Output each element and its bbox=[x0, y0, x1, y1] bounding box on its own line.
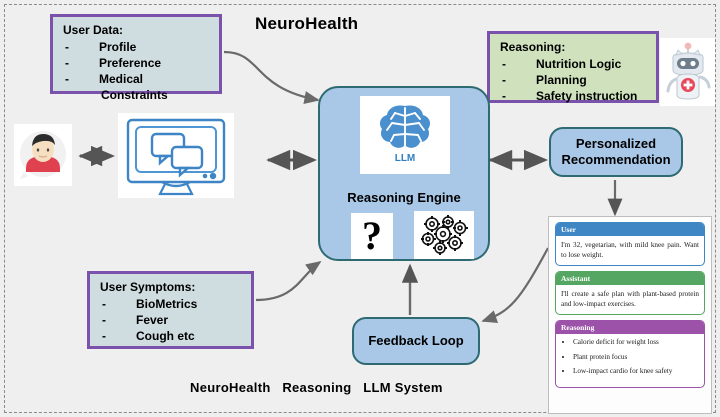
list-item: Low-impact cardio for knee safety bbox=[573, 367, 699, 377]
dash-marker: - bbox=[102, 328, 106, 344]
feedback-loop-node[interactable]: Feedback Loop bbox=[352, 317, 480, 365]
list-item: -Nutrition Logic bbox=[500, 56, 648, 72]
list-item: -Planning bbox=[500, 72, 648, 88]
question-mark-icon: ? bbox=[362, 216, 382, 256]
medical-robot-icon bbox=[663, 41, 713, 103]
dash-marker: - bbox=[102, 296, 106, 312]
list-item-label: Planning bbox=[536, 72, 587, 88]
page-title: NeuroHealth bbox=[255, 14, 358, 34]
reasoning-engine-label: Reasoning Engine bbox=[320, 190, 488, 206]
dash-marker: - bbox=[65, 71, 69, 87]
dash-marker: - bbox=[102, 312, 106, 328]
diagram-canvas: NeuroHealth NeuroHealth Reasoning LLM Sy… bbox=[0, 0, 720, 417]
note-reasoning-title: Reasoning: bbox=[500, 40, 648, 54]
list-item-label: Nutrition Logic bbox=[536, 56, 621, 72]
personalized-recommendation-node[interactable]: Personalized Recommendation bbox=[549, 127, 683, 177]
recommendation-label: Personalized Recommendation bbox=[561, 136, 670, 168]
arrow-symptoms-to-engine bbox=[256, 262, 320, 300]
dash-marker: - bbox=[502, 88, 506, 104]
list-item: -Cough etc bbox=[100, 328, 243, 344]
list-item: -Preference bbox=[63, 55, 211, 71]
arrow-userdata-to-engine bbox=[224, 52, 318, 100]
dash-marker: - bbox=[502, 56, 506, 72]
list-item: -Medical bbox=[63, 71, 211, 87]
avatar bbox=[14, 124, 72, 186]
gears-icon bbox=[417, 213, 471, 257]
brain-icon bbox=[374, 103, 436, 153]
list-item-continuation: Constraints bbox=[63, 87, 211, 103]
recommendation-label-line1: Personalized bbox=[561, 136, 670, 152]
note-user-symptoms-title: User Symptoms: bbox=[100, 280, 243, 294]
footer-caption: NeuroHealth Reasoning LLM System bbox=[190, 380, 443, 395]
arrow-chat-to-feedback bbox=[483, 248, 548, 321]
note-user-data-list: -Profile -Preference -Medical Constraint… bbox=[63, 39, 211, 103]
list-item-label: Medical bbox=[99, 71, 143, 87]
llm-tile: LLM bbox=[360, 96, 450, 174]
question-tile: ? bbox=[351, 213, 393, 259]
note-user-data-title: User Data: bbox=[63, 23, 211, 37]
llm-label: LLM bbox=[395, 151, 416, 167]
chat-bubble-assistant: Assistant I'll create a safe plan with p… bbox=[555, 271, 705, 315]
note-reasoning: Reasoning: -Nutrition Logic -Planning -S… bbox=[487, 31, 659, 103]
chat-transcript-panel[interactable]: User I'm 32, vegetarian, with mild knee … bbox=[548, 216, 712, 414]
chat-bubble-user-text: I'm 32, vegetarian, with mild knee pain.… bbox=[556, 236, 704, 265]
list-item-label: Profile bbox=[99, 39, 136, 55]
list-item-label: Safety instruction bbox=[536, 88, 637, 104]
gears-tile bbox=[414, 211, 474, 259]
list-item-label: Fever bbox=[136, 312, 168, 328]
monitor-chat-illustration bbox=[118, 113, 234, 198]
robot-illustration bbox=[660, 38, 715, 106]
feedback-loop-label: Feedback Loop bbox=[368, 333, 463, 349]
list-item-label: Preference bbox=[99, 55, 161, 71]
chat-bubble-reasoning-body: Calorie deficit for weight loss Plant pr… bbox=[556, 334, 704, 387]
note-user-symptoms: User Symptoms: -BioMetrics -Fever -Cough… bbox=[87, 271, 254, 349]
recommendation-label-line2: Recommendation bbox=[561, 152, 670, 168]
list-item: -Safety instruction bbox=[500, 88, 648, 104]
user-avatar-icon bbox=[16, 128, 70, 182]
chat-bubble-user: User I'm 32, vegetarian, with mild knee … bbox=[555, 222, 705, 266]
reasoning-engine-node[interactable]: LLM Reasoning Engine ? bbox=[318, 86, 490, 261]
list-item: Calorie deficit for weight loss bbox=[573, 338, 699, 348]
reasoning-bullet-list: Calorie deficit for weight loss Plant pr… bbox=[561, 338, 699, 377]
list-item: -BioMetrics bbox=[100, 296, 243, 312]
list-item-label: Cough etc bbox=[136, 328, 195, 344]
list-item-label: BioMetrics bbox=[136, 296, 197, 312]
note-reasoning-list: -Nutrition Logic -Planning -Safety instr… bbox=[500, 56, 648, 104]
chat-bubble-assistant-text: I'll create a safe plan with plant-based… bbox=[556, 285, 704, 314]
chat-bubble-user-header: User bbox=[556, 223, 704, 236]
monitor-chat-icon bbox=[122, 116, 230, 196]
dash-marker: - bbox=[502, 72, 506, 88]
chat-bubble-reasoning: Reasoning Calorie deficit for weight los… bbox=[555, 320, 705, 388]
dash-marker: - bbox=[65, 39, 69, 55]
chat-bubble-reasoning-header: Reasoning bbox=[556, 321, 704, 334]
note-user-symptoms-list: -BioMetrics -Fever -Cough etc bbox=[100, 296, 243, 344]
list-item: Plant protein focus bbox=[573, 353, 699, 363]
dash-marker: - bbox=[65, 55, 69, 71]
chat-bubble-assistant-header: Assistant bbox=[556, 272, 704, 285]
note-user-data: User Data: -Profile -Preference -Medical… bbox=[50, 14, 222, 94]
list-item: -Fever bbox=[100, 312, 243, 328]
list-item: -Profile bbox=[63, 39, 211, 55]
